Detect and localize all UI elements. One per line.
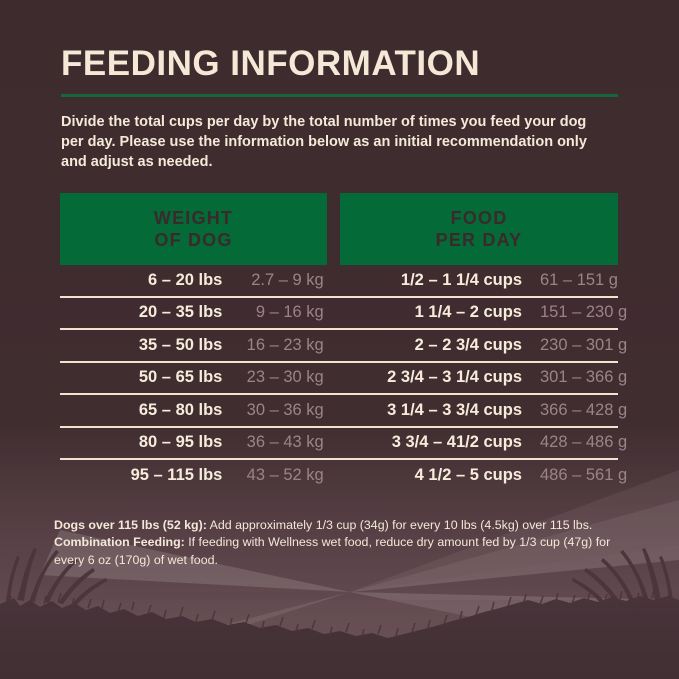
cell-food-grams: 61 – 151 g	[522, 271, 618, 290]
footnote-text-large-dogs: Add approximately 1/3 cup (34g) for ever…	[207, 518, 592, 532]
intro-paragraph: Divide the total cups per day by the tot…	[61, 112, 591, 172]
cell-weight-kg: 36 – 43 kg	[222, 433, 323, 452]
page-title: FEEDING INFORMATION	[61, 44, 480, 84]
column-header-weight-of-dog: WEIGHT OF DOG	[60, 193, 327, 265]
cell-food-grams: 366 – 428 g	[522, 401, 618, 420]
table-row: 20 – 35 lbs 9 – 16 kg 1 1/4 – 2 cups 151…	[60, 298, 618, 331]
grass-fringe	[8, 589, 671, 637]
cell-weight-lbs: 6 – 20 lbs	[60, 271, 222, 290]
feeding-information-panel: FEEDING INFORMATION Divide the total cup…	[0, 0, 679, 679]
cell-food-cups: 2 – 2 3/4 cups	[324, 336, 522, 355]
column-header-food-line1: FOOD	[451, 207, 508, 229]
column-header-food-line2: PER DAY	[436, 229, 523, 251]
cell-food-grams: 151 – 230 g	[522, 303, 618, 322]
cell-weight-lbs: 50 – 65 lbs	[60, 368, 222, 387]
cell-food-cups: 1 1/4 – 2 cups	[324, 303, 522, 322]
table-row: 80 – 95 lbs 36 – 43 kg 3 3/4 – 41/2 cups…	[60, 428, 618, 461]
cell-food-cups: 4 1/2 – 5 cups	[324, 466, 522, 485]
feeding-table: WEIGHT OF DOG FOOD PER DAY 6 – 20 lbs 2.…	[60, 193, 618, 491]
cell-weight-kg: 43 – 52 kg	[222, 466, 323, 485]
cell-weight-kg: 16 – 23 kg	[222, 336, 323, 355]
cell-food-cups: 1/2 – 1 1/4 cups	[324, 271, 522, 290]
table-header-row: WEIGHT OF DOG FOOD PER DAY	[60, 193, 618, 265]
cell-food-cups: 3 3/4 – 41/2 cups	[324, 433, 522, 452]
cell-food-grams: 486 – 561 g	[522, 466, 618, 485]
cell-food-grams: 428 – 486 g	[522, 433, 618, 452]
cell-food-cups: 2 3/4 – 3 1/4 cups	[324, 368, 522, 387]
cell-weight-lbs: 80 – 95 lbs	[60, 433, 222, 452]
hill-silhouette	[0, 596, 679, 679]
cell-weight-kg: 23 – 30 kg	[222, 368, 323, 387]
footnote: Dogs over 115 lbs (52 kg): Add approxima…	[54, 517, 626, 569]
cell-weight-kg: 2.7 – 9 kg	[222, 271, 323, 290]
cell-food-cups: 3 1/4 – 3 3/4 cups	[324, 401, 522, 420]
table-row: 6 – 20 lbs 2.7 – 9 kg 1/2 – 1 1/4 cups 6…	[60, 265, 618, 298]
table-row: 65 – 80 lbs 30 – 36 kg 3 1/4 – 3 3/4 cup…	[60, 395, 618, 428]
cell-food-grams: 230 – 301 g	[522, 336, 618, 355]
haze-band	[0, 600, 679, 679]
cell-food-grams: 301 – 366 g	[522, 368, 618, 387]
cell-weight-kg: 9 – 16 kg	[222, 303, 323, 322]
title-divider	[61, 94, 618, 97]
table-row: 50 – 65 lbs 23 – 30 kg 2 3/4 – 3 1/4 cup…	[60, 363, 618, 396]
table-row: 35 – 50 lbs 16 – 23 kg 2 – 2 3/4 cups 23…	[60, 330, 618, 363]
column-header-weight-line1: WEIGHT	[154, 207, 233, 229]
cell-weight-kg: 30 – 36 kg	[222, 401, 323, 420]
light-beams	[40, 470, 679, 679]
column-header-weight-line2: OF DOG	[154, 229, 232, 251]
cell-weight-lbs: 65 – 80 lbs	[60, 401, 222, 420]
cell-weight-lbs: 35 – 50 lbs	[60, 336, 222, 355]
column-header-food-per-day: FOOD PER DAY	[340, 193, 618, 265]
footnote-lead-combination-feeding: Combination Feeding:	[54, 535, 185, 549]
footnote-lead-large-dogs: Dogs over 115 lbs (52 kg):	[54, 518, 207, 532]
table-row: 95 – 115 lbs 43 – 52 kg 4 1/2 – 5 cups 4…	[60, 460, 618, 491]
cell-weight-lbs: 95 – 115 lbs	[60, 466, 222, 485]
cell-weight-lbs: 20 – 35 lbs	[60, 303, 222, 322]
